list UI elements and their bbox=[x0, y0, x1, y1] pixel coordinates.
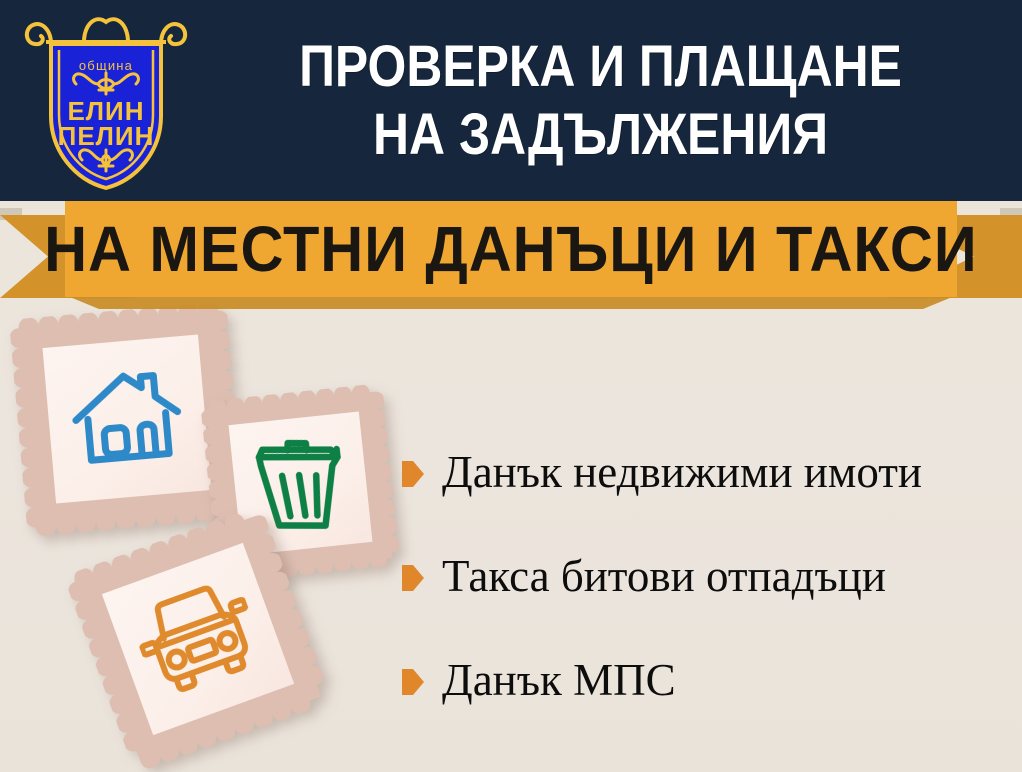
list-item-label: Данък МПС bbox=[442, 655, 676, 705]
list-item[interactable]: Такса битови отпадъци bbox=[402, 524, 1014, 628]
svg-text:ПЕЛИН: ПЕЛИН bbox=[58, 121, 155, 151]
ribbon-banner: НА МЕСТНИ ДАНЪЦИ И ТАКСИ bbox=[0, 196, 1022, 311]
municipality-logo: община ЕЛИН ПЕЛИН bbox=[20, 8, 192, 198]
bullet-arrow-icon bbox=[402, 461, 424, 487]
poster-root: ПРОВЕРКА И ПЛАЩАНЕ НА ЗАДЪЛЖЕНИЯ община bbox=[0, 0, 1022, 772]
list-item-label: Такса битови отпадъци bbox=[442, 551, 886, 601]
ribbon-main-panel: НА МЕСТНИ ДАНЪЦИ И ТАКСИ bbox=[65, 200, 957, 297]
tax-type-list: Данък недвижими имоти Такса битови отпад… bbox=[402, 420, 1014, 732]
house-icon bbox=[42, 334, 211, 503]
ribbon-subtitle: НА МЕСТНИ ДАНЪЦИ И ТАКСИ bbox=[44, 217, 977, 281]
list-item[interactable]: Данък МПС bbox=[402, 628, 1014, 732]
bullet-arrow-icon bbox=[402, 669, 424, 695]
page-title-line-1: ПРОВЕРКА И ПЛАЩАНЕ bbox=[300, 33, 903, 101]
ribbon-shadow bbox=[65, 295, 957, 309]
header-title-block: ПРОВЕРКА И ПЛАЩАНЕ НА ЗАДЪЛЖЕНИЯ bbox=[180, 0, 1022, 201]
svg-text:община: община bbox=[79, 58, 133, 73]
bullet-arrow-icon bbox=[402, 565, 424, 591]
list-item-label: Данък недвижими имоти bbox=[442, 447, 922, 497]
page-title-line-2: НА ЗАДЪЛЖЕНИЯ bbox=[373, 101, 828, 169]
list-item[interactable]: Данък недвижими имоти bbox=[402, 420, 1014, 524]
